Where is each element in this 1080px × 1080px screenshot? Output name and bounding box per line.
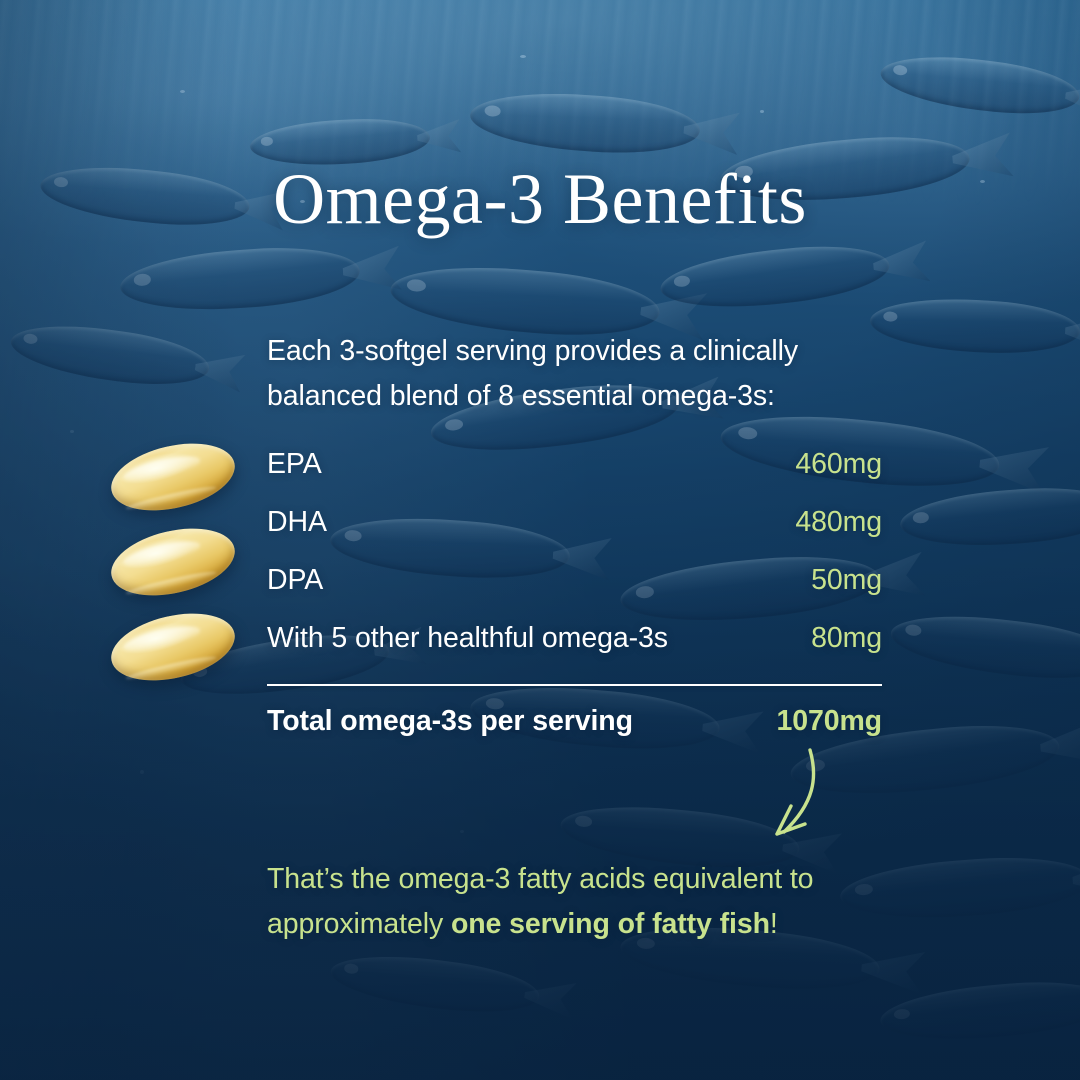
table-row-total: Total omega-3s per serving 1070mg [267, 686, 882, 750]
table-row: EPA 460mg [267, 448, 882, 506]
curved-down-left-arrow-icon [748, 748, 878, 858]
omega3-benefits-infographic: Omega-3 Benefits Each 3-softgel serving … [0, 0, 1080, 1080]
nutrient-value: 460mg [795, 448, 882, 481]
softgel-capsule-icon [105, 603, 242, 692]
softgel-capsule-icon [105, 518, 242, 607]
total-value: 1070mg [776, 705, 882, 738]
nutrient-label: With 5 other healthful omega-3s [267, 622, 668, 655]
nutrient-label: EPA [267, 448, 322, 481]
softgel-capsules-group [110, 446, 250, 678]
total-label: Total omega-3s per serving [267, 705, 633, 738]
omega3-nutrient-table: EPA 460mg DHA 480mg DPA 50mg With 5 othe… [267, 448, 882, 750]
table-row: With 5 other healthful omega-3s 80mg [267, 622, 882, 680]
table-row: DHA 480mg [267, 506, 882, 564]
nutrient-label: DPA [267, 564, 323, 597]
nutrient-value: 50mg [811, 564, 882, 597]
nutrient-label: DHA [267, 506, 327, 539]
closing-tail: ! [770, 908, 778, 940]
closing-emphasis: one serving of fatty fish [451, 908, 770, 940]
nutrient-value: 480mg [795, 506, 882, 539]
softgel-capsule-icon [105, 433, 242, 522]
nutrient-value: 80mg [811, 622, 882, 655]
page-title: Omega-3 Benefits [0, 163, 1080, 235]
closing-paragraph: That’s the omega-3 fatty acids equivalen… [267, 857, 892, 947]
table-row: DPA 50mg [267, 564, 882, 622]
intro-paragraph: Each 3-softgel serving provides a clinic… [267, 329, 867, 419]
